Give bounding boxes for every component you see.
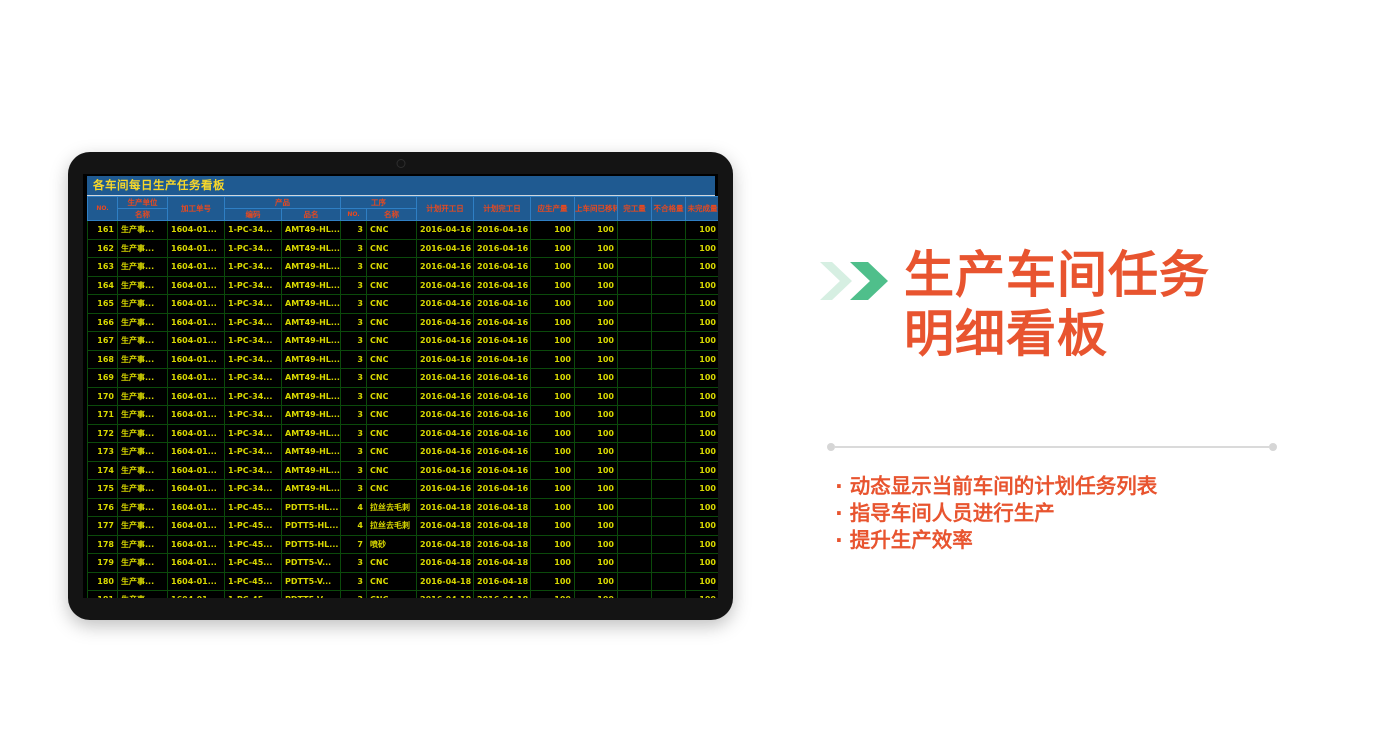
cell-unit-name: 生产事...	[118, 517, 168, 536]
cell-process-no: 3	[341, 387, 367, 406]
cell-product-name: AMT49-HL...	[282, 239, 341, 258]
cell-product-name: AMT49-HL...	[282, 332, 341, 351]
cell-no: 170	[88, 387, 118, 406]
cell-unit-name: 生产事...	[118, 387, 168, 406]
cell-process-no: 4	[341, 517, 367, 536]
col-no: NO.	[88, 197, 118, 221]
cell-process-no: 3	[341, 424, 367, 443]
cell-plan-qty: 100	[531, 480, 575, 499]
col-plan-qty: 应生产量	[531, 197, 575, 221]
cell-transferred-qty: 100	[575, 295, 618, 314]
cell-defect-qty	[652, 554, 686, 573]
bullet-marker-icon: ·	[835, 528, 843, 552]
cell-transferred-qty: 100	[575, 424, 618, 443]
cell-no: 168	[88, 350, 118, 369]
header-row-top: NO. 生产单位 加工单号 产品 工序 计划开工日 计划完工日 应生产量 上车间…	[88, 197, 719, 209]
cell-work-order: 1604-01...	[168, 295, 225, 314]
cell-product-code: 1-PC-34...	[225, 258, 282, 277]
cell-defect-qty	[652, 239, 686, 258]
cell-unit-name: 生产事...	[118, 443, 168, 462]
cell-plan-start: 2016-04-16	[417, 295, 474, 314]
cell-plan-start: 2016-04-18	[417, 517, 474, 536]
cell-process-name: CNC	[367, 461, 417, 480]
cell-plan-end: 2016-04-16	[474, 387, 531, 406]
cell-plan-qty: 100	[531, 332, 575, 351]
cell-unit-name: 生产事...	[118, 554, 168, 573]
cell-product-name: AMT49-HL...	[282, 295, 341, 314]
cell-process-name: CNC	[367, 332, 417, 351]
cell-unit-name: 生产事...	[118, 276, 168, 295]
cell-plan-end: 2016-04-16	[474, 276, 531, 295]
table-row[interactable]: 174生产事...1604-01...1-PC-34...AMT49-HL...…	[88, 461, 719, 480]
cell-transferred-qty: 100	[575, 276, 618, 295]
cell-process-no: 3	[341, 258, 367, 277]
cell-done-qty	[618, 424, 652, 443]
table-row[interactable]: 179生产事...1604-01...1-PC-45...PDTT5-V...3…	[88, 554, 719, 573]
cell-work-order: 1604-01...	[168, 221, 225, 240]
cell-product-code: 1-PC-45...	[225, 554, 282, 573]
cell-plan-qty: 100	[531, 535, 575, 554]
cell-work-order: 1604-01...	[168, 480, 225, 499]
cell-plan-end: 2016-04-16	[474, 369, 531, 388]
table-row[interactable]: 166生产事...1604-01...1-PC-34...AMT49-HL...…	[88, 313, 719, 332]
cell-done-qty	[618, 480, 652, 499]
cell-plan-qty: 100	[531, 258, 575, 277]
col-transferred-qty: 上车间已移转量	[575, 197, 618, 221]
cell-transferred-qty: 100	[575, 443, 618, 462]
cell-plan-end: 2016-04-18	[474, 535, 531, 554]
cell-plan-qty: 100	[531, 406, 575, 425]
cell-defect-qty	[652, 498, 686, 517]
table-row[interactable]: 177生产事...1604-01...1-PC-45...PDTT5-HL...…	[88, 517, 719, 536]
cell-remaining-qty: 100	[686, 350, 719, 369]
cell-no: 162	[88, 239, 118, 258]
bullet-marker-icon: ·	[835, 474, 843, 498]
cell-plan-start: 2016-04-18	[417, 498, 474, 517]
cell-process-no: 3	[341, 572, 367, 591]
cell-remaining-qty: 100	[686, 221, 719, 240]
cell-plan-end: 2016-04-18	[474, 572, 531, 591]
cell-plan-end: 2016-04-16	[474, 480, 531, 499]
cell-plan-end: 2016-04-16	[474, 461, 531, 480]
cell-work-order: 1604-01...	[168, 591, 225, 599]
double-chevron-right-icon	[818, 260, 890, 307]
cell-plan-qty: 100	[531, 461, 575, 480]
cell-process-name: CNC	[367, 276, 417, 295]
cell-plan-end: 2016-04-16	[474, 332, 531, 351]
cell-no: 175	[88, 480, 118, 499]
table-row[interactable]: 161生产事...1604-01...1-PC-34...AMT49-HL...…	[88, 221, 719, 240]
cell-defect-qty	[652, 295, 686, 314]
cell-transferred-qty: 100	[575, 332, 618, 351]
cell-plan-start: 2016-04-16	[417, 406, 474, 425]
cell-defect-qty	[652, 443, 686, 462]
cell-work-order: 1604-01...	[168, 572, 225, 591]
cell-process-name: CNC	[367, 387, 417, 406]
cell-work-order: 1604-01...	[168, 498, 225, 517]
cell-plan-qty: 100	[531, 313, 575, 332]
cell-plan-qty: 100	[531, 276, 575, 295]
cell-remaining-qty: 100	[686, 591, 719, 599]
cell-work-order: 1604-01...	[168, 554, 225, 573]
divider-dot-right	[1269, 443, 1277, 451]
cell-work-order: 1604-01...	[168, 276, 225, 295]
cell-no: 173	[88, 443, 118, 462]
cell-process-name: CNC	[367, 369, 417, 388]
table-row[interactable]: 165生产事...1604-01...1-PC-34...AMT49-HL...…	[88, 295, 719, 314]
col-plan-end: 计划完工日	[474, 197, 531, 221]
cell-remaining-qty: 100	[686, 461, 719, 480]
cell-remaining-qty: 100	[686, 313, 719, 332]
col-remaining-qty: 未完成量	[686, 197, 719, 221]
cell-remaining-qty: 100	[686, 295, 719, 314]
cell-no: 167	[88, 332, 118, 351]
cell-unit-name: 生产事...	[118, 591, 168, 599]
cell-defect-qty	[652, 480, 686, 499]
cell-defect-qty	[652, 424, 686, 443]
cell-done-qty	[618, 554, 652, 573]
cell-product-name: AMT49-HL...	[282, 350, 341, 369]
cell-done-qty	[618, 276, 652, 295]
cell-no: 163	[88, 258, 118, 277]
cell-plan-start: 2016-04-16	[417, 424, 474, 443]
cell-plan-start: 2016-04-16	[417, 332, 474, 351]
cell-process-no: 3	[341, 461, 367, 480]
table-row[interactable]: 171生产事...1604-01...1-PC-34...AMT49-HL...…	[88, 406, 719, 425]
cell-plan-end: 2016-04-16	[474, 295, 531, 314]
cell-product-code: 1-PC-34...	[225, 221, 282, 240]
cell-work-order: 1604-01...	[168, 332, 225, 351]
cell-work-order: 1604-01...	[168, 258, 225, 277]
cell-process-no: 3	[341, 554, 367, 573]
cell-remaining-qty: 100	[686, 572, 719, 591]
list-item-label: 提升生产效率	[850, 528, 973, 552]
cell-plan-qty: 100	[531, 443, 575, 462]
cell-process-name: CNC	[367, 350, 417, 369]
cell-product-code: 1-PC-34...	[225, 332, 282, 351]
cell-process-name: 喷砂	[367, 535, 417, 554]
cell-unit-name: 生产事...	[118, 221, 168, 240]
cell-unit-name: 生产事...	[118, 572, 168, 591]
cell-done-qty	[618, 313, 652, 332]
cell-transferred-qty: 100	[575, 387, 618, 406]
cell-product-code: 1-PC-34...	[225, 295, 282, 314]
cell-unit-name: 生产事...	[118, 350, 168, 369]
cell-plan-start: 2016-04-16	[417, 350, 474, 369]
table-row[interactable]: 164生产事...1604-01...1-PC-34...AMT49-HL...…	[88, 276, 719, 295]
cell-process-no: 3	[341, 239, 367, 258]
cell-defect-qty	[652, 313, 686, 332]
cell-no: 169	[88, 369, 118, 388]
cell-product-code: 1-PC-34...	[225, 313, 282, 332]
cell-product-name: AMT49-HL...	[282, 369, 341, 388]
col-process-name: 名称	[367, 209, 417, 221]
cell-process-name: CNC	[367, 572, 417, 591]
col-done-qty: 完工量	[618, 197, 652, 221]
cell-product-name: AMT49-HL...	[282, 313, 341, 332]
production-task-table: NO. 生产单位 加工单号 产品 工序 计划开工日 计划完工日 应生产量 上车间…	[87, 196, 718, 598]
cell-done-qty	[618, 369, 652, 388]
cell-transferred-qty: 100	[575, 350, 618, 369]
cell-plan-qty: 100	[531, 591, 575, 599]
cell-unit-name: 生产事...	[118, 424, 168, 443]
cell-plan-end: 2016-04-16	[474, 443, 531, 462]
cell-process-name: 拉丝去毛刺	[367, 498, 417, 517]
table-row[interactable]: 168生产事...1604-01...1-PC-34...AMT49-HL...…	[88, 350, 719, 369]
cell-remaining-qty: 100	[686, 387, 719, 406]
kanban-title: 各车间每日生产任务看板	[87, 176, 715, 196]
cell-unit-name: 生产事...	[118, 498, 168, 517]
table-row[interactable]: 175生产事...1604-01...1-PC-34...AMT49-HL...…	[88, 480, 719, 499]
cell-transferred-qty: 100	[575, 369, 618, 388]
cell-product-code: 1-PC-34...	[225, 369, 282, 388]
cell-done-qty	[618, 517, 652, 536]
headline-block: 生产车间任务明细看板	[818, 246, 1318, 364]
cell-product-name: AMT49-HL...	[282, 424, 341, 443]
cell-no: 161	[88, 221, 118, 240]
table-row[interactable]: 167生产事...1604-01...1-PC-34...AMT49-HL...…	[88, 332, 719, 351]
cell-plan-qty: 100	[531, 554, 575, 573]
list-item: ·动态显示当前车间的计划任务列表	[835, 473, 1157, 500]
cell-product-code: 1-PC-34...	[225, 350, 282, 369]
cell-defect-qty	[652, 572, 686, 591]
table-row[interactable]: 172生产事...1604-01...1-PC-34...AMT49-HL...…	[88, 424, 719, 443]
cell-plan-start: 2016-04-16	[417, 480, 474, 499]
cell-product-name: PDTT5-HL...	[282, 498, 341, 517]
cell-process-no: 3	[341, 221, 367, 240]
cell-process-name: CNC	[367, 443, 417, 462]
col-process-no: NO.	[341, 209, 367, 221]
col-plan-start: 计划开工日	[417, 197, 474, 221]
cell-plan-end: 2016-04-16	[474, 406, 531, 425]
cell-defect-qty	[652, 517, 686, 536]
cell-plan-start: 2016-04-16	[417, 461, 474, 480]
cell-process-no: 3	[341, 350, 367, 369]
cell-plan-start: 2016-04-18	[417, 572, 474, 591]
cell-plan-qty: 100	[531, 239, 575, 258]
cell-plan-end: 2016-04-18	[474, 591, 531, 599]
cell-defect-qty	[652, 258, 686, 277]
cell-plan-end: 2016-04-16	[474, 258, 531, 277]
cell-no: 178	[88, 535, 118, 554]
cell-product-code: 1-PC-45...	[225, 591, 282, 599]
col-product-code: 编码	[225, 209, 282, 221]
cell-process-name: CNC	[367, 406, 417, 425]
col-group-unit: 生产单位	[118, 197, 168, 209]
cell-process-name: CNC	[367, 295, 417, 314]
cell-defect-qty	[652, 350, 686, 369]
col-product-name: 品名	[282, 209, 341, 221]
cell-transferred-qty: 100	[575, 406, 618, 425]
cell-work-order: 1604-01...	[168, 387, 225, 406]
cell-transferred-qty: 100	[575, 221, 618, 240]
cell-remaining-qty: 100	[686, 239, 719, 258]
cell-product-name: AMT49-HL...	[282, 258, 341, 277]
cell-process-no: 3	[341, 313, 367, 332]
cell-no: 171	[88, 406, 118, 425]
cell-transferred-qty: 100	[575, 591, 618, 599]
cell-plan-end: 2016-04-18	[474, 554, 531, 573]
cell-plan-end: 2016-04-16	[474, 221, 531, 240]
cell-process-no: 4	[341, 498, 367, 517]
cell-work-order: 1604-01...	[168, 461, 225, 480]
cell-defect-qty	[652, 221, 686, 240]
cell-plan-qty: 100	[531, 369, 575, 388]
cell-unit-name: 生产事...	[118, 535, 168, 554]
cell-remaining-qty: 100	[686, 443, 719, 462]
col-unit-name: 名称	[118, 209, 168, 221]
table-head: NO. 生产单位 加工单号 产品 工序 计划开工日 计划完工日 应生产量 上车间…	[88, 197, 719, 221]
cell-done-qty	[618, 221, 652, 240]
cell-process-no: 3	[341, 369, 367, 388]
list-item: ·指导车间人员进行生产	[835, 500, 1157, 527]
table-row[interactable]: 181生产事...1604-01...1-PC-45...PDTT5-V...3…	[88, 591, 719, 599]
cell-remaining-qty: 100	[686, 406, 719, 425]
cell-remaining-qty: 100	[686, 517, 719, 536]
section-divider	[827, 442, 1277, 452]
cell-done-qty	[618, 406, 652, 425]
page-title: 生产车间任务明细看板	[904, 246, 1254, 364]
cell-no: 176	[88, 498, 118, 517]
cell-plan-end: 2016-04-16	[474, 239, 531, 258]
table-row[interactable]: 178生产事...1604-01...1-PC-45...PDTT5-HL...…	[88, 535, 719, 554]
cell-plan-start: 2016-04-18	[417, 591, 474, 599]
col-defect-qty: 不合格量	[652, 197, 686, 221]
cell-process-name: CNC	[367, 480, 417, 499]
cell-transferred-qty: 100	[575, 239, 618, 258]
cell-done-qty	[618, 572, 652, 591]
list-item-label: 指导车间人员进行生产	[850, 501, 1055, 525]
table-row[interactable]: 169生产事...1604-01...1-PC-34...AMT49-HL...…	[88, 369, 719, 388]
cell-process-name: CNC	[367, 258, 417, 277]
cell-remaining-qty: 100	[686, 480, 719, 499]
cell-work-order: 1604-01...	[168, 239, 225, 258]
table-row[interactable]: 163生产事...1604-01...1-PC-34...AMT49-HL...…	[88, 258, 719, 277]
cell-no: 164	[88, 276, 118, 295]
cell-remaining-qty: 100	[686, 498, 719, 517]
cell-unit-name: 生产事...	[118, 369, 168, 388]
cell-done-qty	[618, 535, 652, 554]
cell-transferred-qty: 100	[575, 572, 618, 591]
cell-process-no: 3	[341, 295, 367, 314]
cell-process-name: 拉丝去毛刺	[367, 517, 417, 536]
cell-plan-end: 2016-04-18	[474, 498, 531, 517]
cell-no: 172	[88, 424, 118, 443]
cell-transferred-qty: 100	[575, 535, 618, 554]
table-row[interactable]: 173生产事...1604-01...1-PC-34...AMT49-HL...…	[88, 443, 719, 462]
cell-process-no: 3	[341, 480, 367, 499]
cell-process-name: CNC	[367, 239, 417, 258]
cell-defect-qty	[652, 406, 686, 425]
cell-plan-start: 2016-04-16	[417, 369, 474, 388]
cell-plan-qty: 100	[531, 387, 575, 406]
table-row[interactable]: 170生产事...1604-01...1-PC-34...AMT49-HL...…	[88, 387, 719, 406]
cell-product-code: 1-PC-45...	[225, 517, 282, 536]
cell-unit-name: 生产事...	[118, 313, 168, 332]
cell-done-qty	[618, 461, 652, 480]
table-row[interactable]: 176生产事...1604-01...1-PC-45...PDTT5-HL...…	[88, 498, 719, 517]
cell-process-name: CNC	[367, 221, 417, 240]
cell-product-name: PDTT5-HL...	[282, 517, 341, 536]
cell-done-qty	[618, 387, 652, 406]
table-row[interactable]: 162生产事...1604-01...1-PC-34...AMT49-HL...…	[88, 239, 719, 258]
cell-defect-qty	[652, 332, 686, 351]
cell-defect-qty	[652, 461, 686, 480]
cell-product-name: PDTT5-V...	[282, 554, 341, 573]
cell-plan-start: 2016-04-16	[417, 443, 474, 462]
cell-product-name: PDTT5-V...	[282, 591, 341, 599]
cell-remaining-qty: 100	[686, 535, 719, 554]
cell-plan-start: 2016-04-16	[417, 313, 474, 332]
cell-product-name: AMT49-HL...	[282, 461, 341, 480]
list-item-label: 动态显示当前车间的计划任务列表	[850, 474, 1158, 498]
cell-product-name: AMT49-HL...	[282, 221, 341, 240]
cell-unit-name: 生产事...	[118, 239, 168, 258]
cell-plan-end: 2016-04-18	[474, 517, 531, 536]
col-group-process: 工序	[341, 197, 417, 209]
camera-dot-icon	[396, 159, 405, 168]
table-row[interactable]: 180生产事...1604-01...1-PC-45...PDTT5-V...3…	[88, 572, 719, 591]
cell-work-order: 1604-01...	[168, 313, 225, 332]
cell-defect-qty	[652, 369, 686, 388]
cell-no: 166	[88, 313, 118, 332]
cell-process-no: 3	[341, 591, 367, 599]
col-work-order: 加工单号	[168, 197, 225, 221]
cell-plan-end: 2016-04-16	[474, 350, 531, 369]
list-item: ·提升生产效率	[835, 527, 1157, 554]
cell-process-no: 3	[341, 443, 367, 462]
cell-remaining-qty: 100	[686, 554, 719, 573]
cell-work-order: 1604-01...	[168, 517, 225, 536]
kanban-board: 各车间每日生产任务看板 NO. 生产单位 加工单号 产品 工序	[87, 176, 715, 596]
cell-remaining-qty: 100	[686, 258, 719, 277]
cell-product-name: AMT49-HL...	[282, 406, 341, 425]
cell-work-order: 1604-01...	[168, 443, 225, 462]
cell-defect-qty	[652, 535, 686, 554]
cell-remaining-qty: 100	[686, 424, 719, 443]
cell-plan-qty: 100	[531, 572, 575, 591]
cell-product-code: 1-PC-34...	[225, 424, 282, 443]
cell-product-code: 1-PC-34...	[225, 443, 282, 462]
cell-defect-qty	[652, 387, 686, 406]
cell-done-qty	[618, 332, 652, 351]
cell-plan-start: 2016-04-16	[417, 276, 474, 295]
cell-transferred-qty: 100	[575, 258, 618, 277]
cell-product-code: 1-PC-34...	[225, 480, 282, 499]
cell-product-name: PDTT5-V...	[282, 572, 341, 591]
cell-process-no: 3	[341, 406, 367, 425]
cell-product-code: 1-PC-34...	[225, 461, 282, 480]
right-panel: 生产车间任务明细看板	[818, 246, 1318, 364]
cell-transferred-qty: 100	[575, 313, 618, 332]
cell-unit-name: 生产事...	[118, 258, 168, 277]
cell-product-code: 1-PC-34...	[225, 406, 282, 425]
cell-plan-end: 2016-04-16	[474, 313, 531, 332]
divider-line	[835, 446, 1269, 448]
cell-product-code: 1-PC-45...	[225, 535, 282, 554]
cell-work-order: 1604-01...	[168, 406, 225, 425]
cell-plan-qty: 100	[531, 221, 575, 240]
cell-work-order: 1604-01...	[168, 424, 225, 443]
cell-unit-name: 生产事...	[118, 332, 168, 351]
cell-transferred-qty: 100	[575, 480, 618, 499]
cell-product-code: 1-PC-45...	[225, 498, 282, 517]
cell-transferred-qty: 100	[575, 498, 618, 517]
cell-plan-start: 2016-04-18	[417, 535, 474, 554]
cell-no: 177	[88, 517, 118, 536]
cell-product-code: 1-PC-34...	[225, 276, 282, 295]
cell-transferred-qty: 100	[575, 554, 618, 573]
